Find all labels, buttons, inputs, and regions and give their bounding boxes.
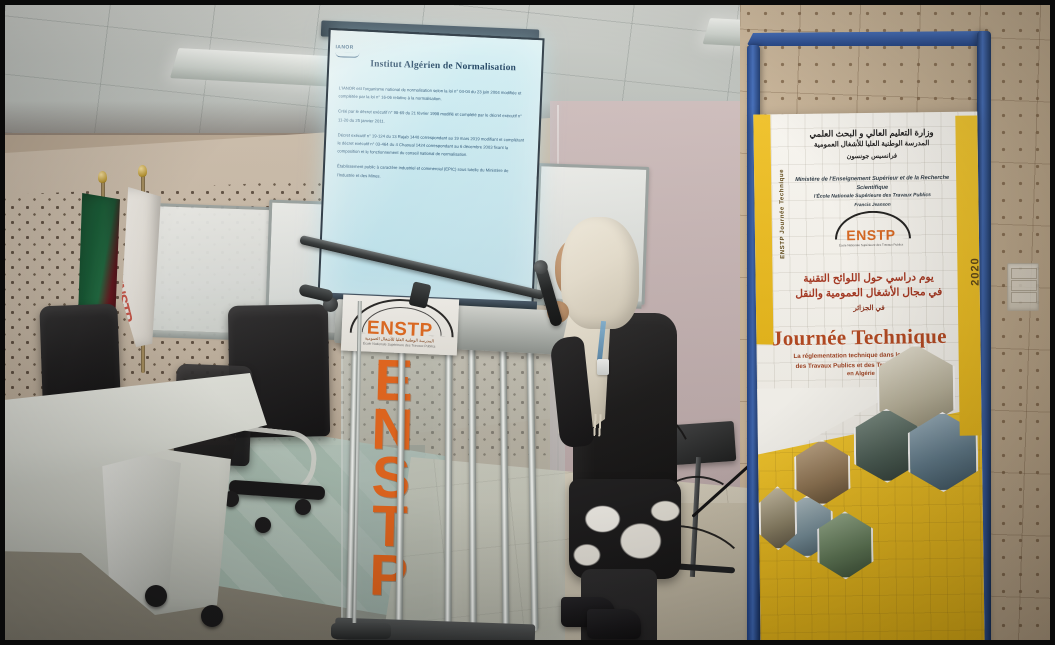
speaker-patterned-hem: [569, 479, 681, 579]
title-ar-line: في الجزائر: [774, 300, 964, 318]
slide-title: Institut Algérien de Normalisation: [353, 59, 533, 74]
conference-photo: IANOR Institut Algérien de Normalisation…: [0, 0, 1055, 645]
banner-event-title: Journée Technique: [768, 324, 950, 352]
ministry-ar-line: فرانسيس جونسون: [784, 150, 960, 164]
slide-paragraph: Créé par le décret exécutif n° 98-69 du …: [338, 108, 528, 130]
banner-logo-tagline: École Nationale Supérieure des Travaux P…: [829, 242, 913, 247]
ianor-logo: IANOR: [335, 44, 361, 58]
banner-title-arabic: يوم دراسي حول اللوائح التقنية في مجال ال…: [773, 270, 964, 318]
chair-caster: [295, 499, 311, 515]
speaker-shoe: [587, 609, 641, 639]
podium-enstp-letters: E N S T P: [354, 356, 426, 601]
flag-finial: [98, 171, 107, 183]
slide-paragraph: Décret exécutif n° 19-124 du 13 Rajab 14…: [337, 131, 527, 161]
podium-letter: P: [354, 551, 421, 601]
flag-finial: [138, 165, 147, 177]
banner-enstp-logo: ENSTP École Nationale Supérieure des Tra…: [829, 210, 914, 257]
photo-frame: IANOR Institut Algérien de Normalisation…: [5, 5, 1050, 640]
mic-stand-base: [331, 623, 391, 639]
banner-frame-top: [747, 31, 991, 46]
name-badge: [597, 359, 609, 375]
office-chair: [39, 304, 120, 403]
event-rollup-banner: وزارة التعليم العالي و البحث العلمي المد…: [753, 111, 984, 640]
hijab: [561, 217, 639, 329]
banner-right-strip: 2020: [955, 115, 981, 435]
title-ar-line: في مجال الأشغال العمومية والنقل: [774, 285, 964, 303]
chair-caster: [145, 585, 167, 607]
podium-rail: [444, 339, 452, 639]
chair-caster: [201, 605, 223, 627]
speaker: [525, 217, 685, 637]
slide-paragraph: L'IANOR est l'organisme national de norm…: [338, 84, 528, 106]
wall-switch-plate[interactable]: [1007, 263, 1039, 311]
slide-body: L'IANOR est l'organisme national de norm…: [337, 84, 529, 191]
banner-ministry-french: Ministère de l'Enseignement Supérieur et…: [784, 174, 960, 210]
slide-paragraph: Établissement public à caractère industr…: [337, 163, 527, 185]
chair-caster: [255, 517, 271, 533]
banner-ministry-arabic: وزارة التعليم العالي و البحث العلمي المد…: [783, 126, 959, 164]
banner-left-strip: ENSTP Journée Technique: [753, 114, 773, 344]
banner-logo-brand: ENSTP: [829, 226, 913, 243]
